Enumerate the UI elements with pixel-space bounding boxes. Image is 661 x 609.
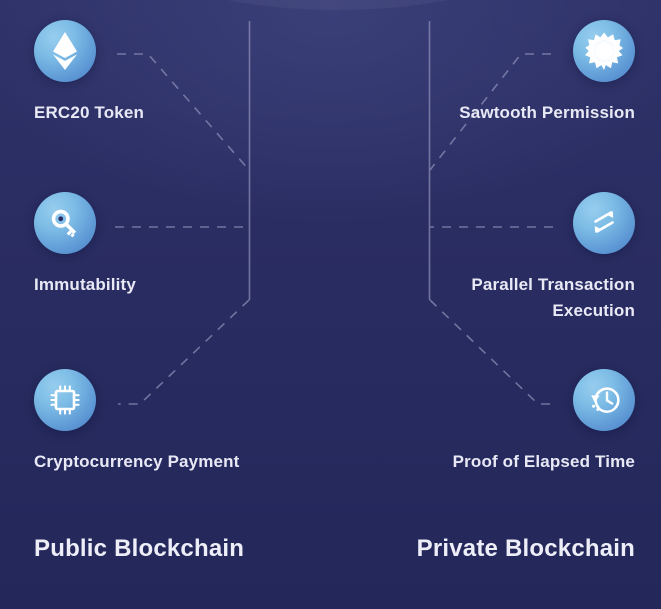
node-label: Immutability — [34, 272, 284, 298]
sawtooth-sunburst-icon — [573, 20, 635, 82]
key-icon — [34, 192, 96, 254]
node-cryptocurrency-payment[interactable]: Cryptocurrency Payment — [34, 369, 284, 475]
clock-history-icon — [573, 369, 635, 431]
node-label: Sawtooth Permission — [385, 100, 635, 126]
node-label: Parallel Transaction Execution — [385, 272, 635, 325]
top-arc-decoration — [155, 0, 520, 10]
heading-public-blockchain: Public Blockchain — [34, 535, 244, 563]
blockchain-comparison-diagram: ERC20 Token Immutability — [0, 0, 661, 609]
node-sawtooth-permission[interactable]: Sawtooth Permission — [385, 20, 635, 126]
heading-private-blockchain: Private Blockchain — [417, 535, 635, 563]
cpu-chip-icon — [34, 369, 96, 431]
node-label: ERC20 Token — [34, 100, 284, 126]
node-label: Proof of Elapsed Time — [385, 449, 635, 475]
ethereum-diamond-icon — [34, 20, 96, 82]
node-label: Cryptocurrency Payment — [34, 449, 284, 475]
node-immutability[interactable]: Immutability — [34, 192, 284, 298]
node-erc20-token[interactable]: ERC20 Token — [34, 20, 284, 126]
node-proof-of-elapsed-time[interactable]: Proof of Elapsed Time — [385, 369, 635, 475]
node-parallel-transaction-execution[interactable]: Parallel Transaction Execution — [385, 192, 635, 325]
parallel-arrows-icon — [573, 192, 635, 254]
